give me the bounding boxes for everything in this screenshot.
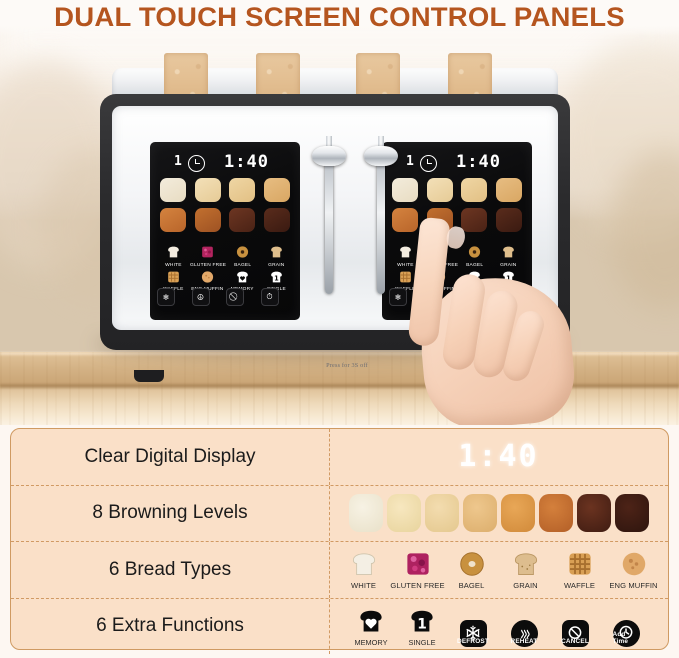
feature-row-browning: 8 Browning Levels bbox=[11, 485, 668, 542]
bread-label: WHITE bbox=[351, 581, 376, 590]
lever-knob[interactable] bbox=[312, 146, 346, 166]
bread-item-waffle: WAFFLE bbox=[557, 549, 603, 590]
lever-track bbox=[377, 158, 385, 294]
infographic-root: 1 1:40 bbox=[0, 0, 679, 658]
bread-label: GLUTEN FREE bbox=[390, 581, 444, 590]
bread-item-grain: GRAIN bbox=[503, 549, 549, 590]
waffle-icon bbox=[165, 269, 182, 285]
feature-visual: WHITE GLUTEN FREE bbox=[329, 542, 668, 598]
svg-text:1: 1 bbox=[417, 616, 427, 632]
defrost-caption: DEFROST bbox=[457, 638, 489, 645]
bread-label: GLUTEN FREE bbox=[190, 261, 226, 267]
slot-indicator: 1 bbox=[174, 154, 182, 169]
feature-visual bbox=[329, 486, 668, 542]
bread-label: WHITE bbox=[165, 261, 182, 267]
bread-button-white[interactable]: WHITE bbox=[157, 244, 190, 267]
feature-table: Clear Digital Display 1:40 8 Browning Le… bbox=[10, 428, 669, 650]
single-slice-icon: 1 bbox=[268, 269, 285, 285]
browning-swatch bbox=[387, 494, 421, 532]
row-divider bbox=[329, 486, 330, 542]
browning-swatch[interactable] bbox=[264, 178, 290, 202]
gluten-free-bread-icon bbox=[199, 244, 216, 260]
bread-button-bagel[interactable]: BAGEL bbox=[226, 244, 259, 267]
reheat-button: REHEAT bbox=[511, 620, 538, 647]
function-item-add-time: Add Time bbox=[604, 620, 648, 647]
function-item-single: 1 SINGLE bbox=[400, 606, 444, 647]
browning-swatch bbox=[501, 494, 535, 532]
browning-swatch[interactable] bbox=[195, 178, 221, 202]
bread-button-grain[interactable]: GRAIN bbox=[261, 244, 294, 267]
add-time-caption: Add Time bbox=[613, 631, 640, 645]
bread-item-eng-muffin: ENG MUFFIN bbox=[611, 549, 657, 590]
lever-track bbox=[325, 158, 333, 294]
browning-level-grid[interactable] bbox=[159, 178, 291, 232]
feature-row-functions: 6 Extra Functions MEMORY 1 bbox=[11, 598, 668, 655]
feature-visual: 1:40 bbox=[329, 429, 668, 485]
digital-display: 1:40 bbox=[224, 152, 269, 172]
english-muffin-icon bbox=[619, 549, 649, 579]
row-divider bbox=[329, 429, 330, 485]
cancel-icon[interactable]: ⃠ bbox=[226, 288, 244, 306]
browning-swatch[interactable] bbox=[427, 178, 453, 202]
function-item-reheat: REHEAT bbox=[502, 620, 546, 647]
hand bbox=[392, 218, 602, 425]
bread-label: BAGEL bbox=[234, 261, 251, 267]
press-note: Press for 3S off bbox=[287, 362, 407, 369]
waffle-icon bbox=[565, 549, 595, 579]
reheat-caption: REHEAT bbox=[511, 638, 538, 645]
single-slice-icon: 1 bbox=[407, 606, 437, 636]
white-bread-icon bbox=[165, 244, 182, 260]
browning-swatch[interactable] bbox=[264, 208, 290, 232]
browning-swatch-strip bbox=[349, 494, 649, 532]
memory-heart-icon bbox=[356, 606, 386, 636]
left-control-panel[interactable]: 1 1:40 bbox=[150, 142, 300, 320]
feature-label: 6 Extra Functions bbox=[11, 615, 329, 637]
browning-swatch bbox=[463, 494, 497, 532]
browning-swatch bbox=[577, 494, 611, 532]
function-item-memory: MEMORY bbox=[349, 606, 393, 647]
bread-type-grid[interactable]: WHITE GLUTEN FREE bbox=[157, 244, 293, 291]
gluten-free-bread-icon bbox=[403, 549, 433, 579]
function-label: MEMORY bbox=[354, 638, 387, 647]
memory-heart-icon bbox=[234, 269, 251, 285]
product-photo: 1 1:40 bbox=[0, 0, 679, 425]
feature-label: 8 Browning Levels bbox=[11, 502, 329, 524]
browning-swatch bbox=[615, 494, 649, 532]
cancel-caption: CANCEL bbox=[561, 638, 589, 645]
browning-swatch[interactable] bbox=[195, 208, 221, 232]
browning-swatch[interactable] bbox=[160, 208, 186, 232]
bread-label: GRAIN bbox=[269, 261, 285, 267]
bread-label: BAGEL bbox=[459, 581, 485, 590]
feature-label: 6 Bread Types bbox=[11, 559, 329, 581]
bread-item-white: WHITE bbox=[341, 549, 387, 590]
function-strip: MEMORY 1 SINGLE bbox=[349, 606, 648, 647]
slot-indicator: 1 bbox=[406, 154, 414, 169]
add-time-clock-icon[interactable]: ⏱ bbox=[261, 288, 279, 306]
led-display-value: 1:40 bbox=[458, 439, 538, 474]
browning-swatch[interactable] bbox=[160, 178, 186, 202]
bread-type-strip: WHITE GLUTEN FREE bbox=[341, 549, 657, 590]
lever-knob[interactable] bbox=[364, 146, 398, 166]
digital-display: 1:40 bbox=[456, 152, 501, 172]
bread-label: GRAIN bbox=[513, 581, 538, 590]
bread-item-bagel: BAGEL bbox=[449, 549, 495, 590]
bagel-icon bbox=[457, 549, 487, 579]
browning-swatch[interactable] bbox=[461, 178, 487, 202]
browning-swatch[interactable] bbox=[229, 208, 255, 232]
cancel-button: CANCEL bbox=[562, 620, 589, 647]
feature-row-display: Clear Digital Display 1:40 bbox=[11, 429, 668, 485]
browning-swatch[interactable] bbox=[229, 178, 255, 202]
feature-label: Clear Digital Display bbox=[11, 446, 329, 468]
function-button-grid[interactable]: ❄ ☮ ⃠ ⏱ bbox=[157, 288, 293, 306]
fingernail bbox=[445, 225, 467, 250]
bread-label: WAFFLE bbox=[564, 581, 595, 590]
row-divider bbox=[329, 599, 330, 655]
browning-swatch[interactable] bbox=[496, 178, 522, 202]
carriage-lever[interactable] bbox=[312, 146, 346, 296]
row-divider bbox=[329, 542, 330, 598]
clock-icon bbox=[188, 155, 205, 172]
reheat-steam-icon[interactable]: ☮ bbox=[192, 288, 210, 306]
function-item-cancel: CANCEL bbox=[553, 620, 597, 647]
right-display-row: 1 1:40 bbox=[382, 151, 532, 173]
feature-row-bread: 6 Bread Types WHITE bbox=[11, 541, 668, 598]
svg-text:1: 1 bbox=[274, 274, 279, 282]
bagel-icon bbox=[234, 244, 251, 260]
left-display-row: 1 1:40 bbox=[150, 151, 300, 173]
english-muffin-icon bbox=[199, 269, 216, 285]
clock-icon bbox=[420, 155, 437, 172]
bread-label: ENG MUFFIN bbox=[609, 581, 657, 590]
browning-swatch bbox=[539, 494, 573, 532]
function-item-defrost: DEFROST bbox=[451, 620, 495, 647]
browning-swatch bbox=[425, 494, 459, 532]
defrost-button: DEFROST bbox=[460, 620, 487, 647]
feature-visual: MEMORY 1 SINGLE bbox=[329, 599, 668, 655]
browning-swatch bbox=[349, 494, 383, 532]
function-label: SINGLE bbox=[408, 638, 435, 647]
white-bread-icon bbox=[349, 549, 379, 579]
bread-item-gluten-free: GLUTEN FREE bbox=[395, 549, 441, 590]
grain-bread-icon bbox=[511, 549, 541, 579]
defrost-snowflake-icon[interactable]: ❄ bbox=[157, 288, 175, 306]
bread-button-gluten-free[interactable]: GLUTEN FREE bbox=[192, 244, 225, 267]
page-title: DUAL TOUCH SCREEN CONTROL PANELS bbox=[0, 2, 679, 33]
toaster-foot bbox=[134, 370, 164, 382]
add-time-button: Add Time bbox=[613, 620, 640, 647]
grain-bread-icon bbox=[268, 244, 285, 260]
